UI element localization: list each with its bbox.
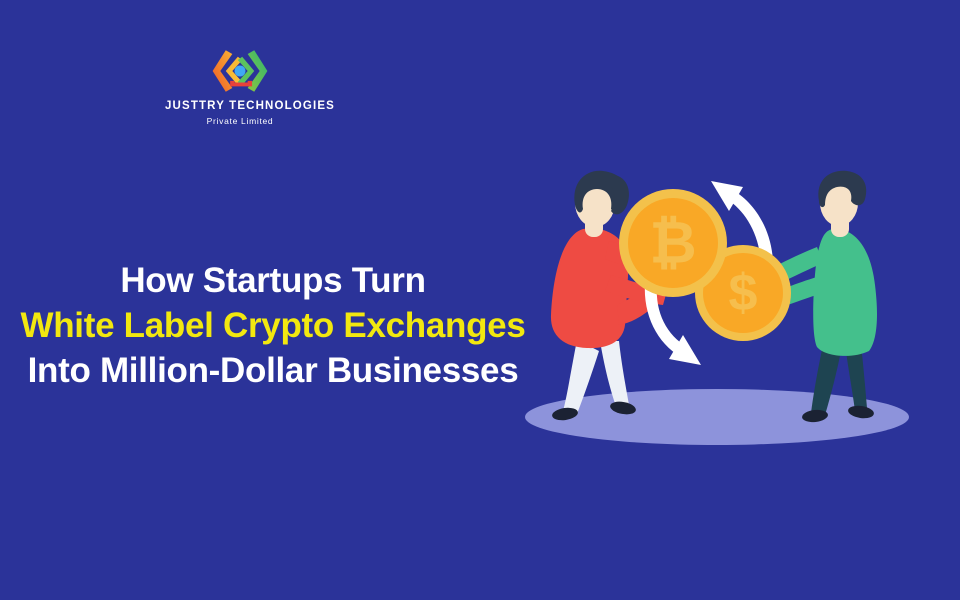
headline-line-3: Into Million-Dollar Businesses: [8, 348, 538, 393]
brand-subtitle: Private Limited: [165, 116, 315, 126]
crypto-exchange-illustration: $ ₿: [505, 165, 935, 455]
bitcoin-coin-symbol: ₿: [649, 211, 696, 276]
promo-banner: JUSTTRY TECHNOLOGIES Private Limited How…: [0, 0, 960, 600]
bitcoin-coin: ₿: [619, 189, 727, 297]
headline-block: How Startups Turn White Label Crypto Exc…: [8, 258, 538, 393]
illustration-canvas: $ ₿: [505, 165, 935, 455]
headline-line-2: White Label Crypto Exchanges: [8, 303, 538, 348]
brand-logo-block: JUSTTRY TECHNOLOGIES Private Limited: [165, 48, 315, 126]
brand-name: JUSTTRY TECHNOLOGIES: [165, 100, 315, 113]
headline-line-1: How Startups Turn: [8, 258, 538, 303]
hexagon-bracket-logo-icon: [205, 48, 275, 94]
dollar-coin-symbol: $: [729, 264, 758, 322]
